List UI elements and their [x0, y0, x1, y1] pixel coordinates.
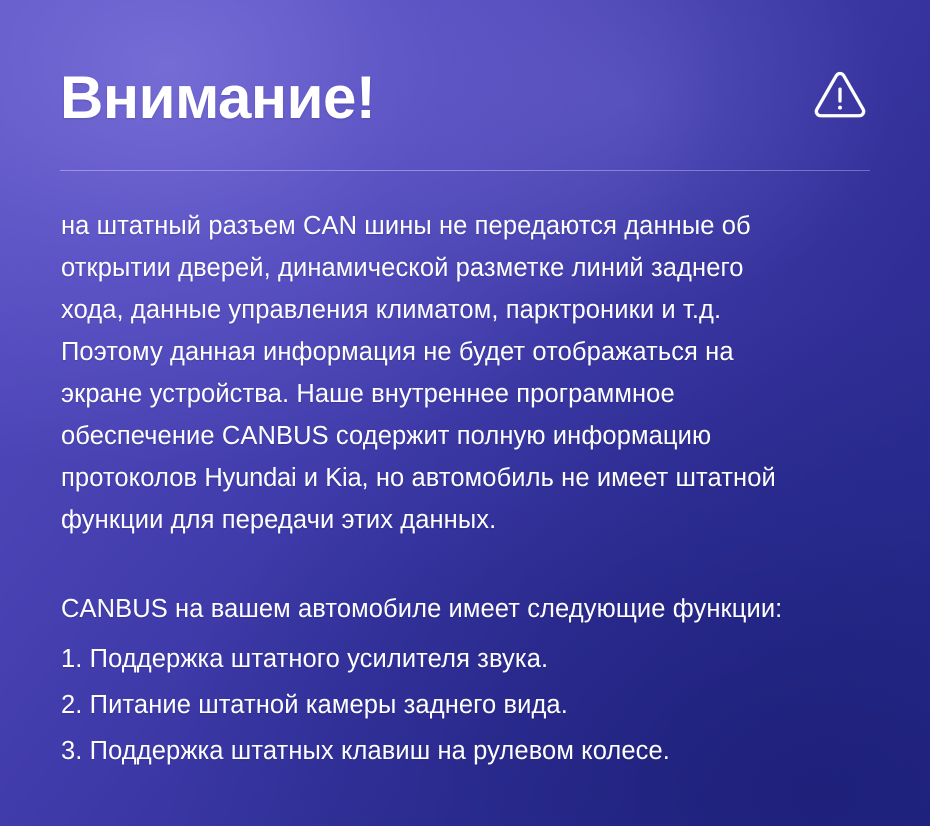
brand-kia: Kia [325, 464, 361, 492]
feature-item: 2. Питание штатной камеры заднего вида. [61, 682, 877, 728]
features-block: CANBUS на вашем автомобиле имеет следующ… [61, 586, 877, 774]
warning-poster: Внимание! на штатный разъем CAN шины не … [0, 0, 930, 826]
notice-line-brands: протоколов Hyundai и Kia, но автомобиль … [61, 457, 877, 499]
notice-line: хода, данные управления климатом, парктр… [61, 289, 877, 331]
notice-line-suffix: , но автомобиль не имеет штатной [362, 464, 776, 492]
notice-line: функции для передачи этих данных. [61, 499, 877, 541]
notice-line: открытии дверей, динамической разметке л… [61, 247, 877, 289]
warning-triangle-icon [812, 68, 868, 124]
poster-header: Внимание! [60, 52, 870, 144]
features-lead: CANBUS на вашем автомобиле имеет следующ… [61, 586, 877, 632]
header-divider [60, 170, 870, 171]
notice-line-conjunction: и [297, 464, 326, 492]
feature-item: 1. Поддержка штатного усилителя звука. [61, 636, 877, 682]
feature-item: 3. Поддержка штатных клавиш на рулевом к… [61, 728, 877, 774]
brand-hyundai: Hyundai [204, 464, 296, 492]
notice-line: на штатный разъем CAN шины не передаются… [61, 205, 877, 247]
notice-line: Поэтому данная информация не будет отобр… [61, 331, 877, 373]
notice-line: экране устройства. Наше внутреннее прогр… [61, 373, 877, 415]
notice-line-prefix: протоколов [61, 464, 204, 492]
notice-paragraph: на штатный разъем CAN шины не передаются… [61, 205, 877, 541]
page-title: Внимание! [60, 68, 375, 128]
notice-line: обеспечение CANBUS содержит полную инфор… [61, 415, 877, 457]
